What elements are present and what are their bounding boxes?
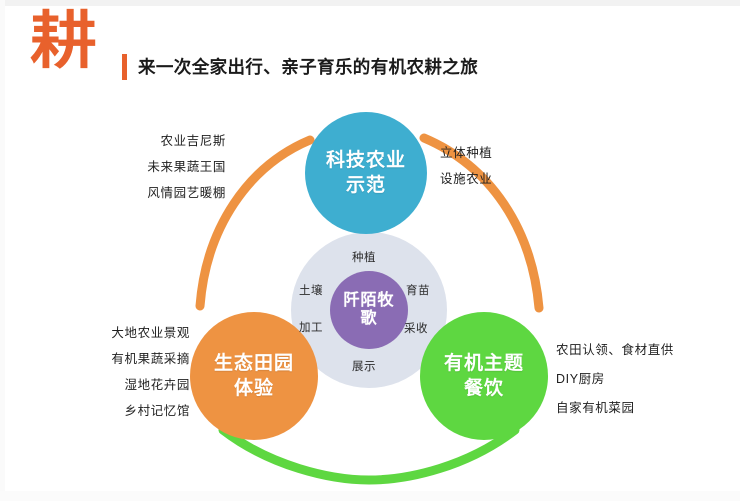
geng-logo-character: 耕 [30, 10, 97, 72]
notes-top-right: 立体种植 设施农业 [440, 140, 492, 192]
notes-top-left: 农业吉尼斯 未来果蔬王国 风情园艺暖棚 [96, 128, 226, 206]
venn-diagram: 科技农业 示范 生态田园 体验 有机主题 餐饮 阡陌牧歌 种植 育苗 采收 展示… [0, 88, 740, 501]
core-label: 阡陌牧歌 [343, 292, 395, 328]
process-label-zhanshi: 展示 [352, 360, 376, 374]
lobe-organic-dining[interactable]: 有机主题 餐饮 [420, 312, 548, 440]
process-label-jiagong: 加工 [299, 321, 323, 335]
note-item: 未来果蔬王国 [96, 154, 226, 180]
process-label-zhongzhi: 种植 [352, 251, 376, 265]
note-item: 立体种植 [440, 140, 492, 166]
note-item: DIY厨房 [556, 365, 674, 394]
note-item: 设施农业 [440, 166, 492, 192]
poster-root: 耕 来一次全家出行、亲子育乐的有机农耕之旅 科技农业 示范 生态田园 体验 [0, 0, 740, 501]
process-label-turang: 土壤 [299, 284, 323, 298]
page-header: 耕 来一次全家出行、亲子育乐的有机农耕之旅 [30, 14, 630, 86]
process-label-caishou: 采收 [404, 322, 428, 336]
note-item: 大地农业景观 [0, 320, 190, 346]
lobe-eco-field-line2: 体验 [214, 376, 294, 401]
note-item: 湿地花卉园 [0, 372, 190, 398]
top-edge-band [0, 0, 740, 6]
note-item: 有机果蔬采摘 [0, 346, 190, 372]
title-accent-bar [122, 54, 127, 80]
lobe-organic-dining-line1: 有机主题 [444, 351, 524, 376]
core-circle[interactable]: 阡陌牧歌 [330, 271, 408, 349]
process-label-yumiao: 育苗 [406, 284, 430, 298]
lobe-tech-agri-line1: 科技农业 [326, 148, 406, 173]
note-item: 自家有机菜园 [556, 394, 674, 423]
note-item: 乡村记忆馆 [0, 398, 190, 424]
note-item: 农业吉尼斯 [96, 128, 226, 154]
note-item: 农田认领、食材直供 [556, 336, 674, 365]
lobe-organic-dining-line2: 餐饮 [444, 376, 524, 401]
notes-bottom-right: 农田认领、食材直供 DIY厨房 自家有机菜园 [556, 336, 674, 423]
page-title: 来一次全家出行、亲子育乐的有机农耕之旅 [138, 56, 478, 78]
lobe-tech-agri[interactable]: 科技农业 示范 [305, 112, 427, 234]
lobe-tech-agri-line2: 示范 [326, 173, 406, 198]
lobe-eco-field-line1: 生态田园 [214, 351, 294, 376]
note-item: 风情园艺暖棚 [96, 180, 226, 206]
notes-bottom-left: 大地农业景观 有机果蔬采摘 湿地花卉园 乡村记忆馆 [0, 320, 190, 424]
